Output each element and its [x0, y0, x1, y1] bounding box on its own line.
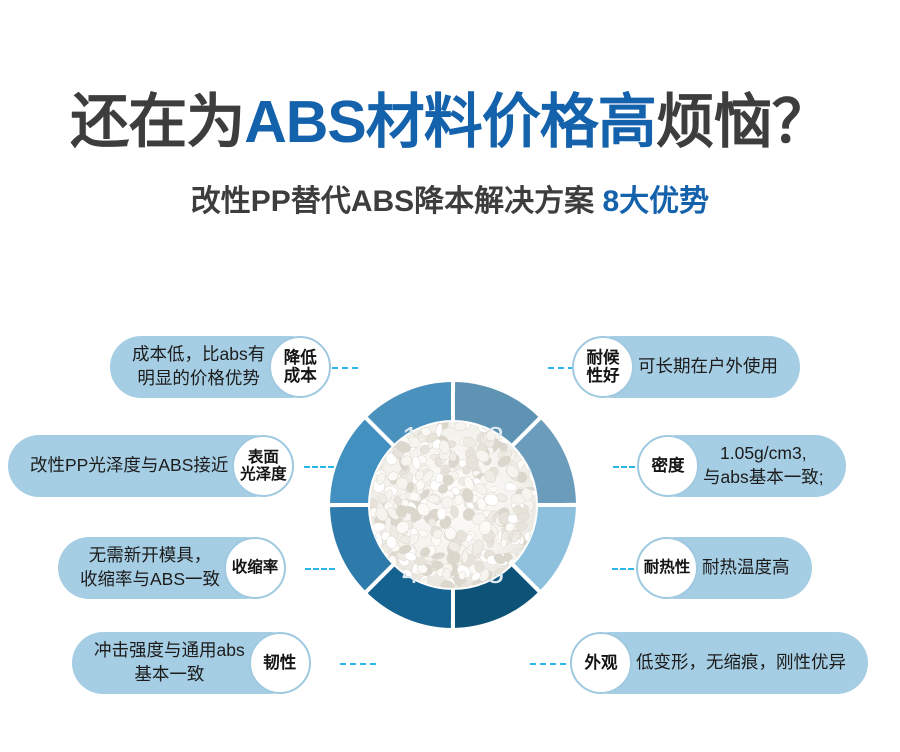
- connector-line-4: [340, 663, 376, 665]
- callout-2-badge: 表面 光泽度: [232, 435, 294, 497]
- title-part-accent: ABS材料价格高: [244, 89, 656, 155]
- advantages-donut-chart: 1 2 3 4 5 6 7 8: [328, 380, 578, 630]
- callout-4-badge: 韧性: [249, 632, 311, 694]
- callout-3[interactable]: 无需新开模具， 收缩率与ABS一致 收缩率: [58, 537, 286, 599]
- product-pellets-image: [370, 422, 536, 588]
- callout-1-badge: 降低 成本: [269, 336, 331, 398]
- callout-4[interactable]: 冲击强度与通用abs 基本一致 韧性: [72, 632, 311, 694]
- callout-8-badge: 耐候 性好: [572, 336, 634, 398]
- callout-6[interactable]: 耐热温度高 耐热性: [636, 537, 812, 599]
- pellets-svg: [370, 422, 536, 588]
- callout-8[interactable]: 可长期在户外使用 耐候 性好: [572, 336, 800, 398]
- title-part-plain-2: 烦恼？: [656, 89, 830, 155]
- header: 还在为ABS材料价格高烦恼？ 改性PP替代ABS降本解决方案 8大优势: [0, 0, 900, 220]
- subtitle-part-plain: 改性PP替代ABS降本解决方案: [191, 185, 603, 218]
- callout-6-badge: 耐热性: [636, 537, 698, 599]
- title-part-plain-1: 还在为: [70, 89, 244, 155]
- callout-7[interactable]: 1.05g/cm3, 与abs基本一致; 密度: [637, 435, 846, 497]
- page-title: 还在为ABS材料价格高烦恼？: [0, 0, 900, 154]
- connector-line-2: [304, 466, 334, 468]
- callout-5[interactable]: 低变形，无缩痕，刚性优异 外观: [570, 632, 868, 694]
- connector-line-5: [530, 663, 566, 665]
- callout-5-badge: 外观: [570, 632, 632, 694]
- callout-7-badge: 密度: [637, 435, 699, 497]
- callout-1[interactable]: 成本低，比abs有 明显的价格优势 降低 成本: [110, 336, 331, 398]
- page-subtitle: 改性PP替代ABS降本解决方案 8大优势: [0, 154, 900, 220]
- callout-3-badge: 收缩率: [224, 537, 286, 599]
- subtitle-part-accent: 8大优势: [603, 185, 710, 218]
- callout-2[interactable]: 改性PP光泽度与ABS接近 表面 光泽度: [8, 435, 294, 497]
- connector-line-3: [305, 568, 335, 570]
